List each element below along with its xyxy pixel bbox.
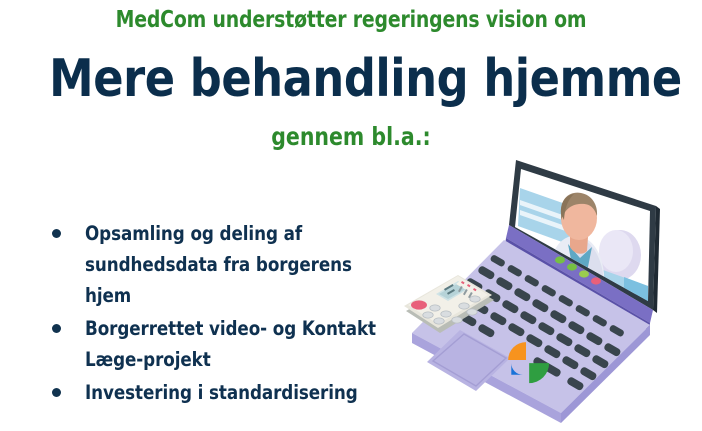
- isometric-laptop-illustration: [398, 148, 702, 431]
- list-item-label: Borgerrettet video- og Kontakt Læge-proj…: [85, 313, 401, 375]
- bullet-dot-icon: [52, 388, 61, 397]
- list-item: Borgerrettet video- og Kontakt Læge-proj…: [52, 313, 452, 375]
- eyebrow-text: MedCom understøtter regeringens vision o…: [63, 9, 639, 32]
- status-dot-green-3: [579, 270, 589, 277]
- device-red-button: [411, 300, 427, 309]
- bullet-dot-icon: [52, 324, 61, 333]
- screen-bubble-inner: [599, 230, 633, 272]
- status-dot-green-1: [555, 256, 565, 263]
- poster-canvas: MedCom understøtter regeringens vision o…: [0, 0, 702, 431]
- list-item-label: Investering i standardisering: [85, 377, 401, 408]
- list-item: Opsamling og deling af sundhedsdata fra …: [52, 218, 452, 311]
- status-dot-green-2: [567, 263, 577, 270]
- bullet-dot-icon: [52, 229, 61, 238]
- page-title: Mere behandling hjemme: [49, 52, 653, 107]
- list-item-label: Opsamling og deling af sundhedsdata fra …: [85, 218, 401, 311]
- status-dot-red: [591, 277, 601, 284]
- list-item: Investering i standardisering: [52, 377, 452, 408]
- subline-text: gennem bl.a.:: [63, 124, 639, 149]
- bullet-list: Opsamling og deling af sundhedsdata fra …: [52, 218, 452, 410]
